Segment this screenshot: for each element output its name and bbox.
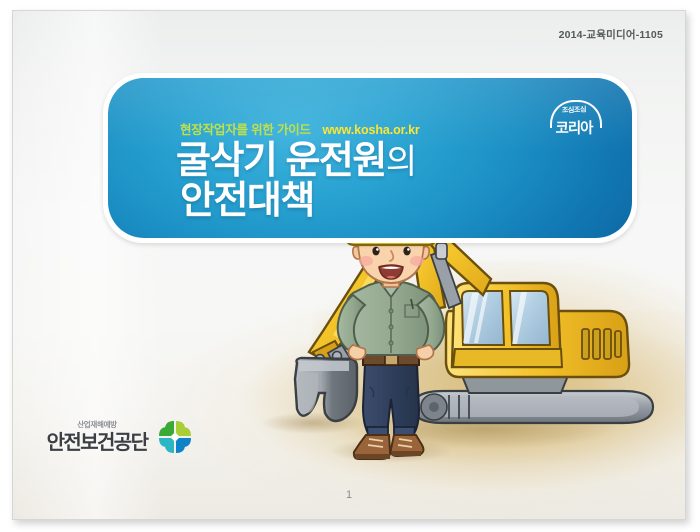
logo-name: 안전보건공단 <box>41 433 153 453</box>
banner-title-block: 굴삭기 운전원의 안전대책 <box>176 142 416 221</box>
page-number: 1 <box>13 489 685 501</box>
badge-big-text: 코리아 <box>544 117 604 138</box>
worker-eye-left <box>372 247 379 256</box>
kosha-website-url[interactable]: www.kosha.or.kr <box>322 123 419 137</box>
banner-subtitle-row: 현장작업자를 위한 가이드 www.kosha.or.kr <box>180 122 420 138</box>
excavator-bucket <box>295 358 357 421</box>
logo-tagline: 산업재해예방 <box>41 421 153 429</box>
badge-small-text: 조심조심 <box>544 104 604 116</box>
worker-boots <box>354 435 424 459</box>
worker-cheek-left <box>359 256 373 266</box>
worker-eye-right <box>403 247 410 256</box>
excavator-tracks <box>413 391 653 423</box>
banner-subtitle: 현장작업자를 위한 가이드 <box>180 123 311 137</box>
worker-cheek-right <box>410 256 424 266</box>
josim-korea-badge: 조심조심 코리아 <box>544 100 604 142</box>
logo-text: 산업재해예방 안전보건공단 <box>41 421 153 453</box>
cover-page: 2014-교육미디어-1105 <box>0 0 700 532</box>
title-line-2: 안전대책 <box>176 182 416 222</box>
title-line-1-suffix: 의 <box>386 143 416 181</box>
title-line-1-main: 굴삭기 운전원 <box>176 140 386 182</box>
excavator-cab <box>452 283 562 367</box>
title-banner: 현장작업자를 위한 가이드 www.kosha.or.kr 굴삭기 운전원의 안… <box>103 73 637 243</box>
document-sheet: 2014-교육미디어-1105 <box>12 10 686 520</box>
kosha-pinwheel-icon <box>155 417 195 457</box>
title-banner-inner: 현장작업자를 위한 가이드 www.kosha.or.kr 굴삭기 운전원의 안… <box>108 78 632 238</box>
kosha-organization-logo: 산업재해예방 안전보건공단 <box>41 417 201 467</box>
title-line-1: 굴삭기 운전원의 <box>176 142 416 182</box>
